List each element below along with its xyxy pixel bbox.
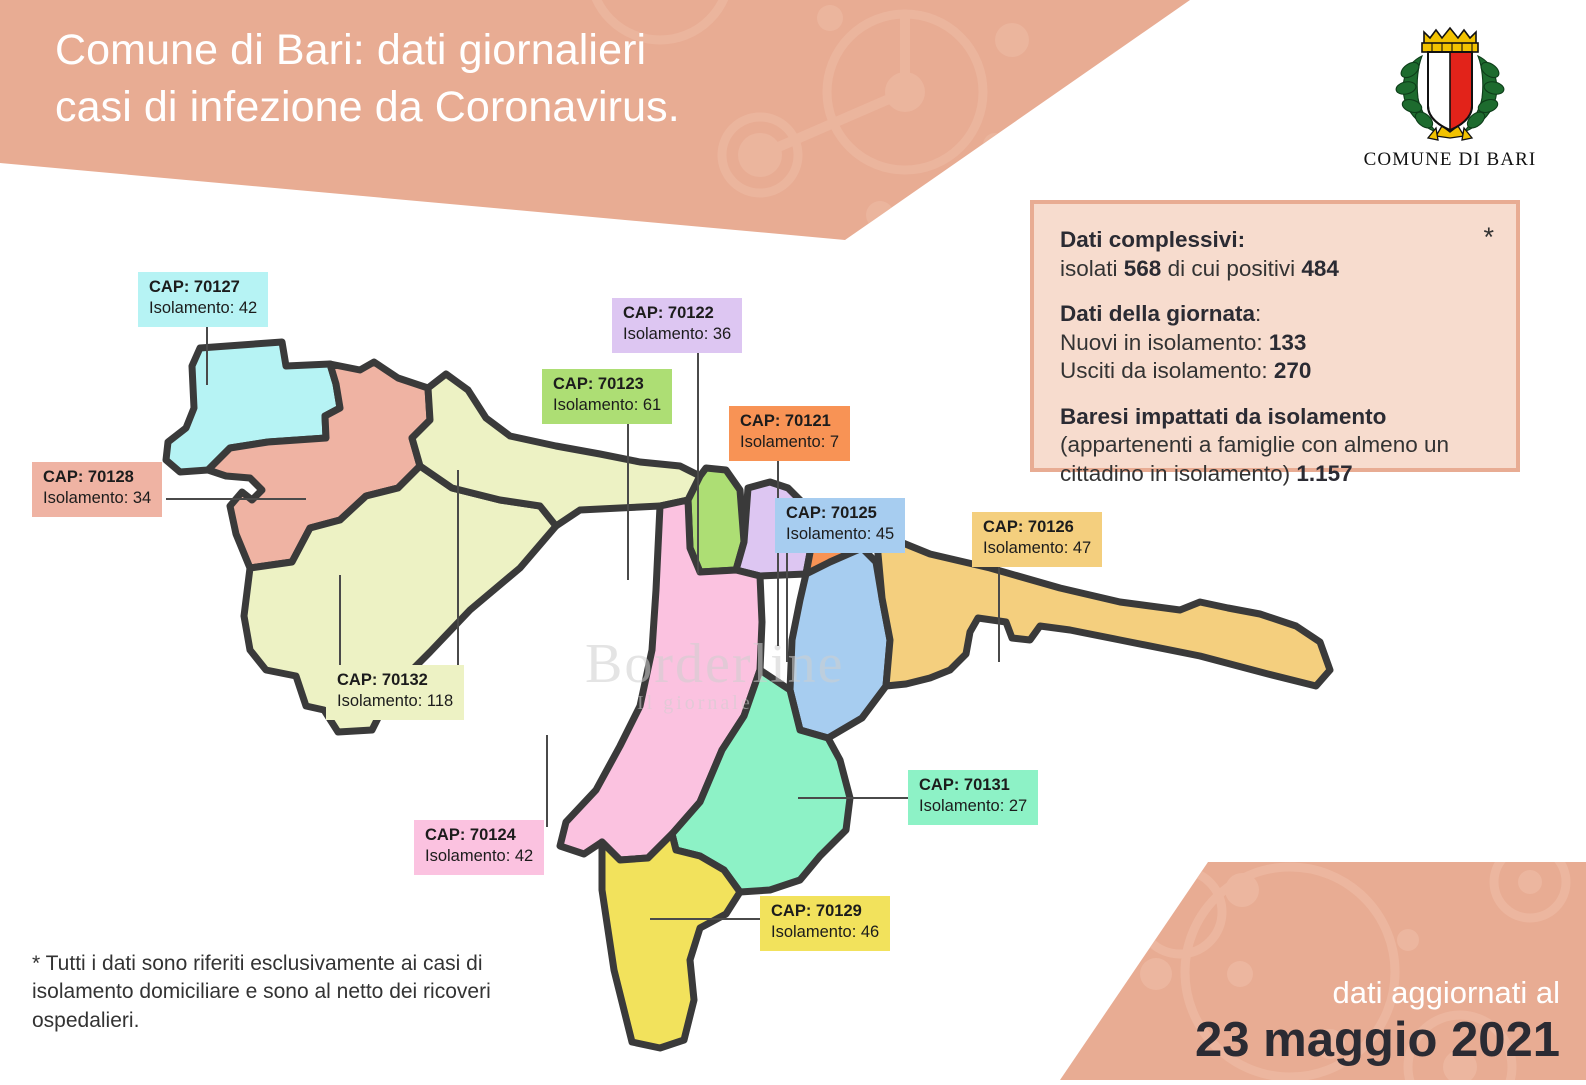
map-label-70131-iso: Isolamento: 27 (919, 796, 1027, 817)
map-label-70127-cap: CAP: 70127 (149, 277, 257, 298)
district-shape-70125[interactable] (790, 548, 890, 738)
footnote-text: * Tutti i dati sono riferiti esclusivame… (32, 950, 572, 1035)
map-label-70126-cap: CAP: 70126 (983, 517, 1091, 538)
title-line-1: Comune di Bari: dati giornalieri (55, 22, 955, 79)
map-label-70124-cap: CAP: 70124 (425, 825, 533, 846)
comune-di-bari-logo: COMUNE DI BARI (1340, 14, 1560, 184)
coat-of-arms-icon (1380, 14, 1520, 142)
leader-line-70125 (786, 552, 788, 662)
title-line-2: casi di infezione da Coronavirus. (55, 79, 955, 136)
map-label-70131[interactable]: CAP: 70131 Isolamento: 27 (908, 770, 1038, 825)
map-label-70125[interactable]: CAP: 70125 Isolamento: 45 (775, 498, 905, 553)
district-shape-70126[interactable] (876, 532, 1330, 686)
map-label-70123[interactable]: CAP: 70123 Isolamento: 61 (542, 369, 672, 424)
map-label-70128-iso: Isolamento: 34 (43, 488, 151, 509)
map-label-70126-iso: Isolamento: 47 (983, 538, 1091, 559)
map-label-70124[interactable]: CAP: 70124 Isolamento: 42 (414, 820, 544, 875)
map-label-70129-iso: Isolamento: 46 (771, 922, 879, 943)
map-label-70126[interactable]: CAP: 70126 Isolamento: 47 (972, 512, 1102, 567)
map-label-70122[interactable]: CAP: 70122 Isolamento: 36 (612, 298, 742, 353)
map-label-70128[interactable]: CAP: 70128 Isolamento: 34 (32, 462, 162, 517)
district-shape-70129[interactable] (602, 834, 740, 1048)
map-label-70122-iso: Isolamento: 36 (623, 324, 731, 345)
map-label-70124-iso: Isolamento: 42 (425, 846, 533, 867)
map-label-70123-cap: CAP: 70123 (553, 374, 661, 395)
map-label-70127-iso: Isolamento: 42 (149, 298, 257, 319)
map-label-70129[interactable]: CAP: 70129 Isolamento: 46 (760, 896, 890, 951)
map-label-70122-cap: CAP: 70122 (623, 303, 731, 324)
leader-line-70132b (457, 470, 459, 672)
leader-line-70122 (697, 348, 699, 574)
map-label-70131-cap: CAP: 70131 (919, 775, 1027, 796)
leader-line-70129 (650, 918, 762, 920)
map-label-70132-iso: Isolamento: 118 (337, 691, 453, 712)
page-title: Comune di Bari: dati giornalieri casi di… (55, 22, 955, 136)
leader-line-70128 (166, 498, 306, 500)
map-label-70132[interactable]: CAP: 70132 Isolamento: 118 (326, 665, 464, 720)
map-label-70132-cap: CAP: 70132 (337, 670, 453, 691)
footnote-asterisk: * (1483, 220, 1494, 254)
date-banner-date: 23 maggio 2021 (1195, 1015, 1560, 1066)
logo-caption: COMUNE DI BARI (1340, 149, 1560, 171)
map-label-70128-cap: CAP: 70128 (43, 467, 151, 488)
crown-icon (1422, 28, 1478, 52)
map-label-70121[interactable]: CAP: 70121 Isolamento: 7 (729, 406, 850, 461)
map-label-70125-iso: Isolamento: 45 (786, 524, 894, 545)
shield-icon (1428, 52, 1472, 130)
map-label-70123-iso: Isolamento: 61 (553, 395, 661, 416)
map-label-70129-cap: CAP: 70129 (771, 901, 879, 922)
map-label-70121-cap: CAP: 70121 (740, 411, 839, 432)
leader-line-70124 (546, 735, 548, 827)
map-label-70127[interactable]: CAP: 70127 Isolamento: 42 (138, 272, 268, 327)
leader-line-70123 (627, 415, 629, 580)
map-label-70121-iso: Isolamento: 7 (740, 432, 839, 453)
date-banner-subtitle: dati aggiornati al (1195, 976, 1560, 1010)
leader-line-70132 (339, 575, 341, 673)
leader-line-70126 (998, 558, 1000, 662)
map-label-70125-cap: CAP: 70125 (786, 503, 894, 524)
leader-line-70131 (798, 797, 912, 799)
